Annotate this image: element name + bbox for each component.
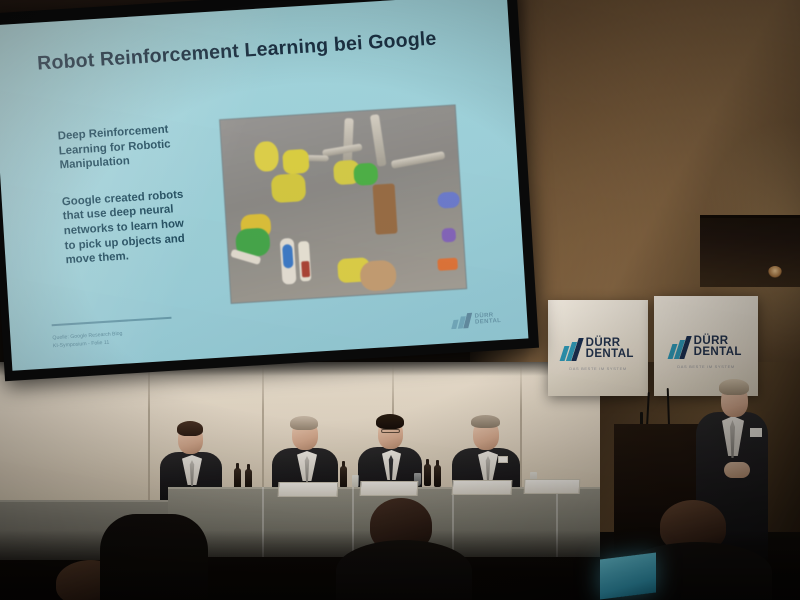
panelist-hair	[376, 414, 404, 429]
slide-object	[437, 191, 460, 208]
slide-surface: Robot Reinforcement Learning bei Google …	[0, 0, 528, 371]
banner-logo-line1: DÜRR	[586, 338, 634, 349]
slide-object	[359, 260, 397, 292]
speaker-hair	[719, 379, 749, 395]
durr-dental-logo-icon	[670, 336, 690, 359]
wall-ledge	[700, 215, 800, 287]
water-bottle	[434, 465, 441, 487]
slide-object	[353, 162, 378, 185]
audience-shoulders	[336, 540, 472, 600]
panelist-hair	[471, 415, 500, 428]
durr-dental-logo-icon	[562, 338, 582, 361]
water-bottle	[424, 464, 431, 486]
robot-arm	[391, 151, 446, 169]
table-name-card	[360, 481, 419, 496]
water-bottle	[340, 466, 347, 488]
laptop-screen	[600, 553, 656, 600]
banner-left: DÜRR DENTAL DAS BESTE IM SYSTEM	[548, 300, 648, 396]
panelist-hair	[290, 416, 318, 430]
slide-logo: DÜRR DENTAL	[452, 311, 502, 329]
table-name-card	[452, 480, 513, 495]
table-name-card	[524, 479, 581, 494]
slide-footer: Quelle: Google Research Blog KI-Symposiu…	[52, 330, 123, 350]
projection-screen: Robot Reinforcement Learning bei Google …	[0, 0, 539, 381]
pocket-square	[750, 428, 762, 437]
banner-tagline: DAS BESTE IM SYSTEM	[670, 364, 742, 369]
name-badge	[498, 456, 508, 463]
slide-object	[301, 261, 310, 277]
slide-body-text: Deep Reinforcement Learning for Robotic …	[57, 120, 215, 268]
audience-silhouette	[100, 514, 208, 600]
eyeglasses-icon	[381, 429, 400, 433]
slide-divider	[52, 317, 172, 327]
slide-object	[441, 228, 456, 243]
speaker-hands	[724, 462, 750, 478]
wall-lamp	[768, 266, 782, 278]
slide-object	[282, 149, 309, 175]
panelist-hair	[177, 421, 203, 436]
banner-tagline: DAS BESTE IM SYSTEM	[562, 366, 634, 371]
banner-logo-line2: DENTAL	[694, 347, 742, 358]
banner-logo-line1: DÜRR	[694, 336, 742, 347]
durr-dental-logo-icon	[452, 313, 472, 329]
robot-gripper	[370, 114, 387, 167]
slide-object	[254, 141, 280, 172]
banner-logo-line2: DENTAL	[586, 349, 634, 360]
photograph-scene: DÜRR DENTAL DAS BESTE IM SYSTEM DÜRR DEN…	[0, 0, 800, 600]
slide-object	[282, 244, 293, 269]
slide-object	[437, 258, 458, 271]
slide-robot-photo	[219, 104, 467, 304]
wall-seam	[148, 362, 150, 522]
robot-gripper	[343, 118, 354, 164]
table-name-card	[278, 482, 339, 497]
slide-title: Robot Reinforcement Learning bei Google	[37, 28, 438, 76]
slide-object	[372, 183, 397, 234]
slide-object	[271, 173, 307, 203]
slide-logo-line2: DENTAL	[475, 319, 502, 326]
